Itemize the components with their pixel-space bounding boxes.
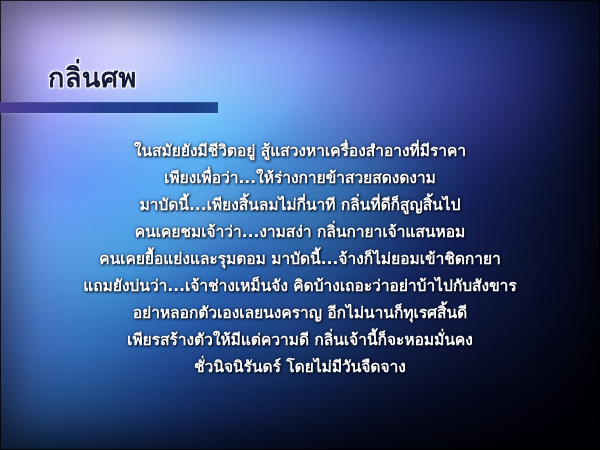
poem-line: มาบัดนี้...เพียงสิ้นลมไม่กี่นาที กลิ่นที… (0, 192, 600, 219)
poem-body: ในสมัยยังมีชีวิตอยู่ สู้แสวงหาเครื่องสำอ… (0, 138, 600, 381)
poem-line: เพียรสร้างตัวให้มีแต่ความดี กลิ่นเจ้านี้… (0, 327, 600, 354)
presentation-slide: กลิ่นศพ ในสมัยยังมีชีวิตอยู่ สู้แสวงหาเค… (0, 0, 600, 450)
poem-line: อย่าหลอกตัวเองเลยนงคราญ อีกไม่นานก็ทุเรศ… (0, 300, 600, 327)
poem-line: ชั่วนิจนิรันดร์ โดยไม่มีวันจืดจาง (0, 354, 600, 381)
page-title: กลิ่นศพ (48, 64, 137, 94)
slide-content: กลิ่นศพ ในสมัยยังมีชีวิตอยู่ สู้แสวงหาเค… (0, 0, 600, 450)
poem-line: คนเคยยื้อแย่งและรุมตอม มาบัดนี้...จ้างก็… (0, 246, 600, 273)
poem-line: ในสมัยยังมีชีวิตอยู่ สู้แสวงหาเครื่องสำอ… (0, 138, 600, 165)
poem-line: คนเคยชมเจ้าว่า...งามสง่า กลิ่นกายาเจ้าแส… (0, 219, 600, 246)
title-divider (0, 102, 218, 113)
poem-line: แถมยังบ่นว่า...เจ้าช่างเหม็นจัง คิดบ้างเ… (0, 273, 600, 300)
poem-line: เพียงเพื่อว่า...ให้ร่างกายข้าสวยสดงดงาม (0, 165, 600, 192)
